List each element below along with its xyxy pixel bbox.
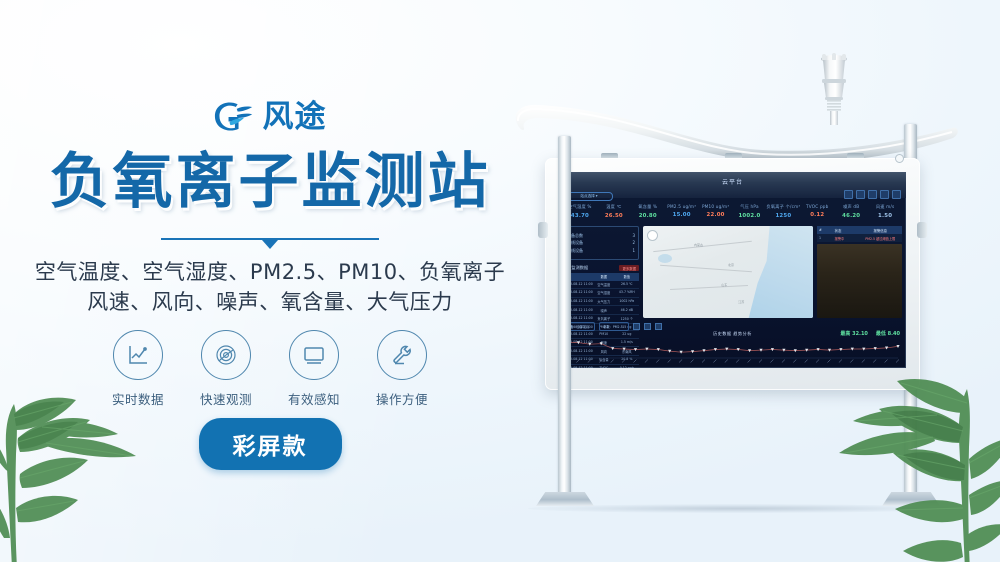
kpi-value: 1250 [766,213,800,219]
kpi-card: PM2.5 ug/m³15.00 [665,204,699,219]
kpi-label: PM2.5 ug/m³ [665,204,699,209]
base-plate-left [536,492,594,506]
title-divider [0,238,540,240]
table-row[interactable]: 2022-08-12 11:00:02空气湿度43.7 %RH [563,289,639,298]
feature-label: 快速观测 [195,389,257,408]
alarm-panel: # 状态 报警信息 1 报警中 PM2.5 超过阈值上限 [817,226,902,318]
kpi-label: 负氧离子 个/cm³ [766,204,800,210]
kpi-value: 22.00 [699,212,733,218]
subtitle-line-1: 空气温度、空气湿度、PM2.5、PM10、负氧离子 [0,258,540,288]
kpi-card: TVOC ppb0.12 [800,204,834,219]
map-label: 山东 [721,283,727,287]
kpi-value: 46.20 [834,213,868,219]
map-label: 内蒙古 [694,243,703,247]
map-icon[interactable] [868,190,877,199]
kpi-label: 噪声 dB [834,204,868,210]
more-data-badge[interactable]: 更多数据 [619,265,639,271]
monitor-icon [289,330,339,380]
kpi-value: 20.80 [631,213,665,219]
list-icon[interactable] [880,190,889,199]
kpi-card: 气压 hPa1002.0 [733,204,767,219]
map-label: 江苏 [738,300,744,304]
lake-shape [658,254,672,263]
mount-bracket-icon [725,153,742,158]
kpi-card: 温度 ℃26.50 [597,204,631,219]
alarm-table-header: # 状态 报警信息 [817,226,902,234]
side-knob-icon [917,222,927,238]
device-stat-value: 1 [632,248,635,254]
feature-item-effective-sensing[interactable]: 有效感知 [283,330,345,408]
table-row[interactable]: 2022-08-12 11:00:02大气压力1002 hPa [563,298,639,307]
kpi-value: 26.50 [597,213,631,219]
device-summary-card: 设备总数3在线设备2离线设备1 [563,226,639,260]
feature-label: 有效感知 [283,389,345,408]
site-photo [817,244,902,318]
chart-icon[interactable] [856,190,865,199]
mount-hook-icon [895,154,904,163]
kpi-label: 温度 ℃ [597,204,631,210]
feature-item-easy-operation[interactable]: 操作方便 [371,330,433,408]
kpi-value: 15.00 [665,212,699,218]
grid-icon[interactable] [844,190,853,199]
dashboard-screen[interactable]: 云平台 站点选择 ▾ 空气湿度 %43.70温度 ℃26.50氧含量 %20.8… [559,172,906,368]
table-row[interactable]: 2022-08-12 11:00:02噪声46.2 dB [563,306,639,315]
map-label: 北京 [728,263,734,267]
kpi-card: 氧含量 %20.80 [631,204,665,219]
table-cell: 1002 hPa [615,298,639,306]
table-cell: 空气温度 [593,281,615,289]
banana-leaf-plant-icon [0,378,169,562]
wrench-icon [377,330,427,380]
brand-logo: 风途 [0,100,540,134]
kpi-value: 0.12 [800,212,834,218]
kpi-card: 噪声 dB46.20 [834,204,868,219]
table-header-bar: 实时监测数据 更多数据 [563,265,639,271]
feature-item-fast-observation[interactable]: 快速观测 [195,330,257,408]
table-column-header: 时间数据数值 [563,273,639,281]
alarm-col-status: 状态 [833,226,859,234]
table-cell: 大气压力 [593,298,615,306]
subtitle-line-2: 风速、风向、噪声、氧含量、大气压力 [0,288,540,318]
table-row[interactable]: 2022-08-12 11:00:02空气温度26.5 ℃ [563,281,639,290]
device-stat-row: 离线设备1 [567,248,635,254]
table-cell: 0.12 ppb [615,365,639,368]
kpi-label: TVOC ppb [800,204,834,209]
device-stat-row: 在线设备2 [567,240,635,246]
kpi-label: 氧含量 % [631,204,665,210]
alarm-message: PM2.5 超过阈值上限 [859,234,902,242]
kpi-card: 负氧离子 个/cm³1250 [766,204,800,219]
kpi-label: PM10 ug/m³ [699,204,733,209]
chart-param-select[interactable]: 参数：PM2.5 [599,322,628,331]
chart-type-bar-icon[interactable] [633,323,640,330]
alarm-status: 报警中 [833,234,859,242]
table-cell: 43.7 %RH [615,289,639,297]
china-map-widget[interactable]: 内蒙古 北京 山东 江苏 [643,226,813,318]
wind-leaf-logo-icon [214,100,254,134]
chart-export-icon[interactable] [655,323,662,330]
promo-banner: 风途 负氧离子监测站 空气温度、空气湿度、PM2.5、PM10、负氧离子 风速、… [0,0,1000,562]
alarm-col-index: # [817,226,833,234]
mount-bracket-icon [601,153,618,158]
kpi-label: 风速 m/s [868,204,902,210]
table-column-label: 数据 [593,273,615,281]
radar-scan-icon [201,330,251,380]
device-stat-value: 2 [632,240,635,246]
table-cell: TVOC [593,365,615,368]
banana-leaf-plant-icon [837,355,1000,562]
curved-canopy-icon [512,98,960,160]
table-cell: 26.5 ℃ [615,281,639,289]
table-cell: 空气湿度 [593,289,615,297]
divider-triangle-icon [262,240,278,249]
alarm-index: 1 [817,234,833,242]
device-stat-row: 设备总数3 [567,233,635,239]
table-cell: 噪声 [593,306,615,314]
kpi-value: 1.50 [868,213,902,219]
sea-region [738,226,813,318]
subtitle-block: 空气温度、空气湿度、PM2.5、PM10、负氧离子 风速、风向、噪声、氧含量、大… [0,258,540,318]
map-pin-icon [647,230,658,241]
line-chart-icon [113,330,163,380]
dashboard-toolbar[interactable] [844,190,901,199]
kpi-row: 空气湿度 %43.70温度 ℃26.50氧含量 %20.80PM2.5 ug/m… [563,204,902,219]
kpi-card: 风速 m/s1.50 [868,204,902,219]
gear-icon[interactable] [892,190,901,199]
page-title: 负氧离子监测站 [0,152,540,212]
kpi-label: 气压 hPa [733,204,767,210]
brand-name: 风途 [263,102,327,133]
kpi-card: PM10 ug/m³22.00 [699,204,733,219]
table-column-label: 数值 [615,273,639,281]
device-stat-value: 3 [632,233,635,239]
chart-type-line-icon[interactable] [644,323,651,330]
table-row[interactable]: 2022-08-12 11:00:02TVOC0.12 ppb [563,365,639,368]
alarm-row[interactable]: 1 报警中 PM2.5 超过阈值上限 [817,234,902,242]
mount-bracket-icon [847,153,864,158]
feature-label: 操作方便 [371,389,433,408]
table-cell: 46.2 dB [615,306,639,314]
alarm-col-message: 报警信息 [859,226,902,234]
kpi-value: 1002.0 [733,213,767,219]
dashboard-title: 云平台 [559,177,906,186]
station-selector[interactable]: 站点选择 ▾ [565,192,613,201]
color-screen-button[interactable]: 彩屏款 [199,418,342,470]
support-post-left [558,136,571,498]
